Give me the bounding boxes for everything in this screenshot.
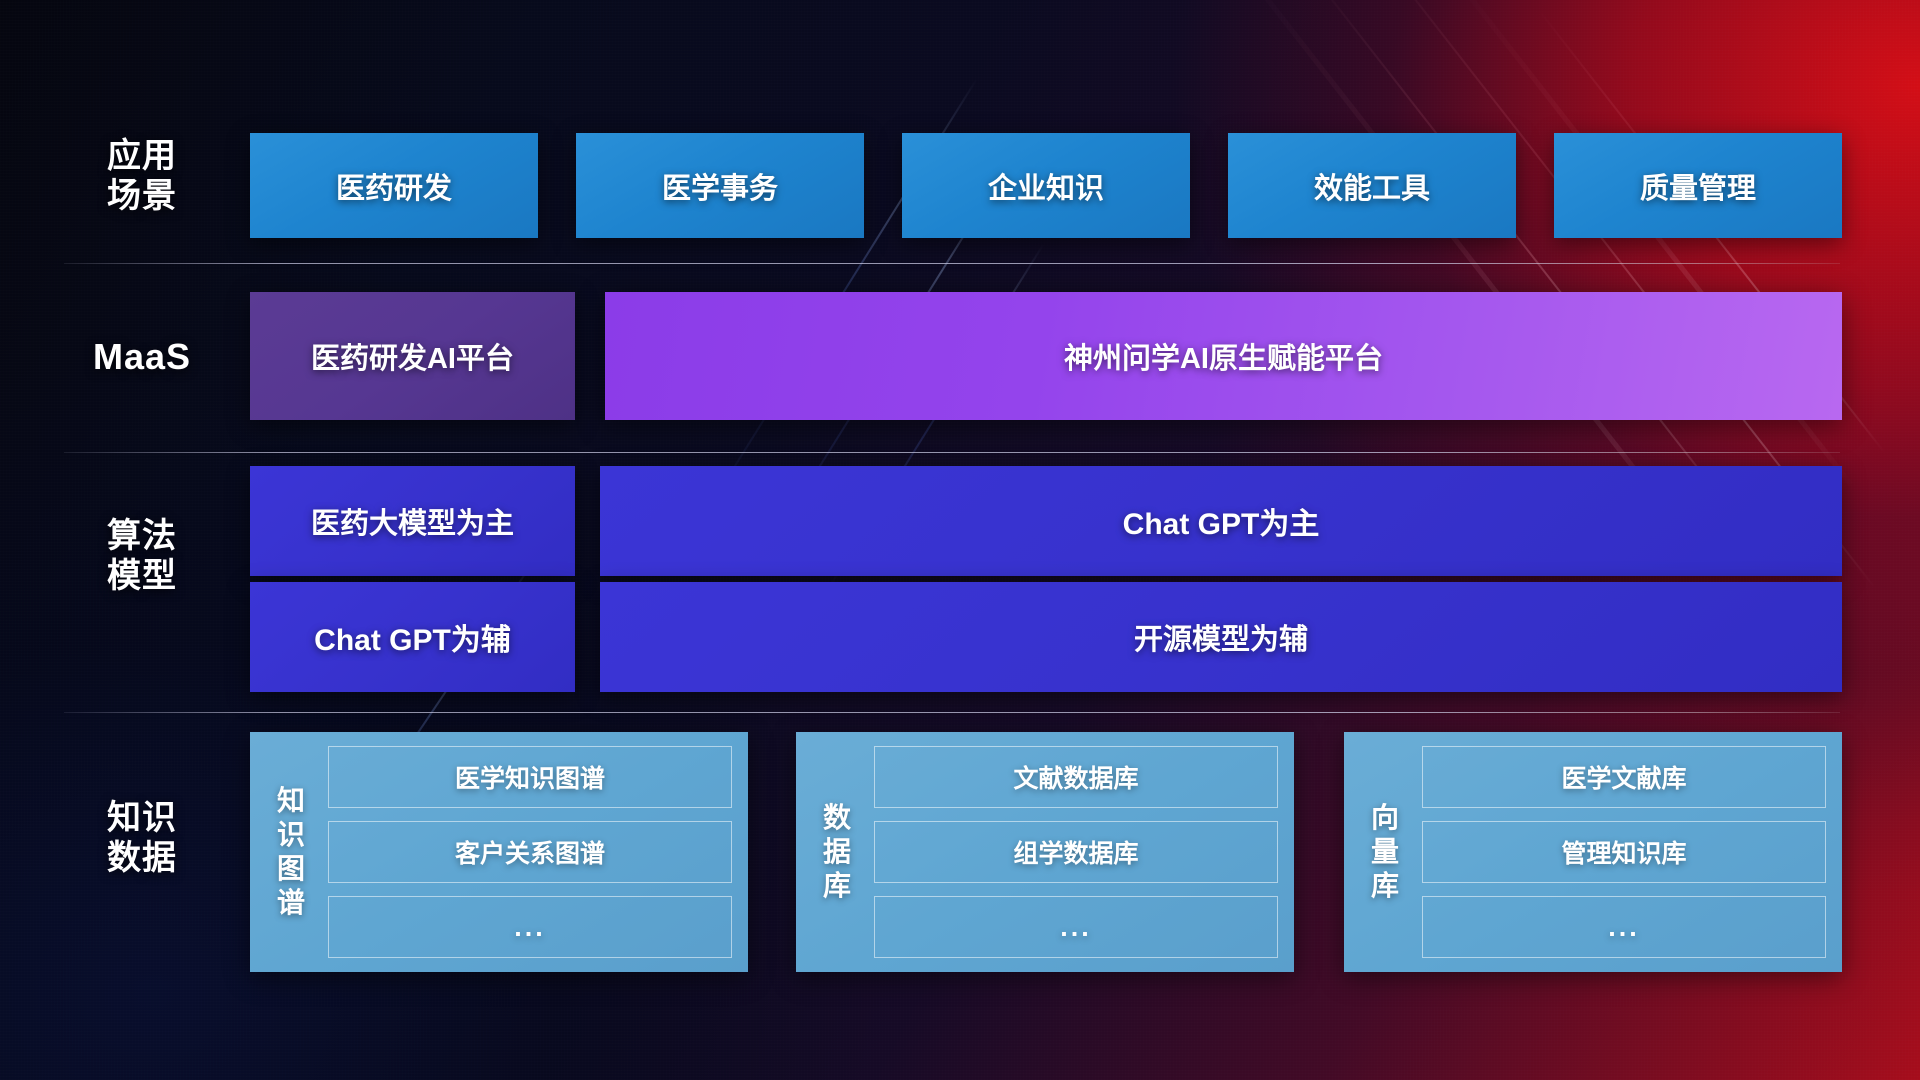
algorithm-box-row1-right[interactable]: Chat GPT为主 <box>600 466 1842 576</box>
algorithm-box-row1-left[interactable]: 医药大模型为主 <box>250 466 575 576</box>
divider-2 <box>64 452 1840 453</box>
diagram-canvas: 应用 场景 医药研发 医学事务 企业知识 效能工具 质量管理 MaaS 医药研发… <box>0 0 1920 1080</box>
knowledge-item-more[interactable]: ... <box>328 896 732 958</box>
knowledge-item-more[interactable]: ... <box>874 896 1278 958</box>
algorithm-box-row2-right[interactable]: 开源模型为辅 <box>600 582 1842 692</box>
vlabel-char: 据 <box>823 835 851 869</box>
app-scenario-label: 医学事务 <box>662 165 778 207</box>
maas-right-box[interactable]: 神州问学AI原生赋能平台 <box>605 292 1842 420</box>
maas-right-label: 神州问学AI原生赋能平台 <box>1064 335 1383 377</box>
app-scenario-box-1[interactable]: 医药研发 <box>250 133 538 238</box>
vlabel-char: 数 <box>823 801 851 835</box>
app-scenario-box-4[interactable]: 效能工具 <box>1228 133 1516 238</box>
divider-3 <box>64 712 1840 713</box>
knowledge-item[interactable]: 文献数据库 <box>874 746 1278 808</box>
algorithm-box-row2-left[interactable]: Chat GPT为辅 <box>250 582 575 692</box>
knowledge-panel-knowledge-graph[interactable]: 知 识 图 谱 医学知识图谱 客户关系图谱 ... <box>250 732 748 972</box>
tier-label-algorithm-models: 算法 模型 <box>72 516 212 596</box>
tier-label-line: 场景 <box>72 176 212 216</box>
app-scenario-box-2[interactable]: 医学事务 <box>576 133 864 238</box>
app-scenario-label: 医药研发 <box>336 165 452 207</box>
vlabel-char: 库 <box>1371 869 1399 903</box>
tier-label-line: MaaS <box>72 336 212 378</box>
vlabel-char: 识 <box>277 818 305 852</box>
knowledge-panel-vector-store[interactable]: 向 量 库 医学文献库 管理知识库 ... <box>1344 732 1842 972</box>
knowledge-panel-item-list: 医学文献库 管理知识库 ... <box>1416 746 1826 958</box>
knowledge-item[interactable]: 管理知识库 <box>1422 821 1826 883</box>
app-scenario-box-3[interactable]: 企业知识 <box>902 133 1190 238</box>
algorithm-label: 医药大模型为主 <box>311 500 514 542</box>
tier-label-line: 数据 <box>72 838 212 878</box>
knowledge-item[interactable]: 组学数据库 <box>874 821 1278 883</box>
vlabel-char: 谱 <box>277 886 305 920</box>
app-scenario-label: 企业知识 <box>988 165 1104 207</box>
algorithm-label: Chat GPT为主 <box>1123 499 1320 543</box>
algorithm-label: Chat GPT为辅 <box>314 615 511 659</box>
maas-left-label: 医药研发AI平台 <box>311 335 514 377</box>
divider-1 <box>64 263 1840 264</box>
algorithm-label: 开源模型为辅 <box>1134 616 1308 658</box>
vlabel-char: 知 <box>277 784 305 818</box>
knowledge-item[interactable]: 客户关系图谱 <box>328 821 732 883</box>
knowledge-panel-vertical-label: 向 量 库 <box>1354 746 1416 958</box>
tier-label-maas: MaaS <box>72 336 212 378</box>
tier-label-knowledge-data: 知识 数据 <box>72 798 212 878</box>
vlabel-char: 库 <box>823 869 851 903</box>
vlabel-char: 量 <box>1371 835 1399 869</box>
tier-label-application-scenarios: 应用 场景 <box>72 136 212 216</box>
knowledge-item[interactable]: 医学知识图谱 <box>328 746 732 808</box>
knowledge-panel-database[interactable]: 数 据 库 文献数据库 组学数据库 ... <box>796 732 1294 972</box>
knowledge-panel-item-list: 医学知识图谱 客户关系图谱 ... <box>322 746 732 958</box>
maas-left-box[interactable]: 医药研发AI平台 <box>250 292 575 420</box>
knowledge-panel-vertical-label: 数 据 库 <box>806 746 868 958</box>
tier-label-line: 知识 <box>72 798 212 838</box>
app-scenario-box-5[interactable]: 质量管理 <box>1554 133 1842 238</box>
vlabel-char: 图 <box>277 852 305 886</box>
tier-label-line: 算法 <box>72 516 212 556</box>
vlabel-char: 向 <box>1371 801 1399 835</box>
knowledge-panel-item-list: 文献数据库 组学数据库 ... <box>868 746 1278 958</box>
app-scenario-label: 质量管理 <box>1640 165 1756 207</box>
app-scenario-label: 效能工具 <box>1314 165 1430 207</box>
tier-label-line: 应用 <box>72 136 212 176</box>
knowledge-item-more[interactable]: ... <box>1422 896 1826 958</box>
knowledge-item[interactable]: 医学文献库 <box>1422 746 1826 808</box>
knowledge-panel-vertical-label: 知 识 图 谱 <box>260 746 322 958</box>
tier-label-line: 模型 <box>72 556 212 596</box>
